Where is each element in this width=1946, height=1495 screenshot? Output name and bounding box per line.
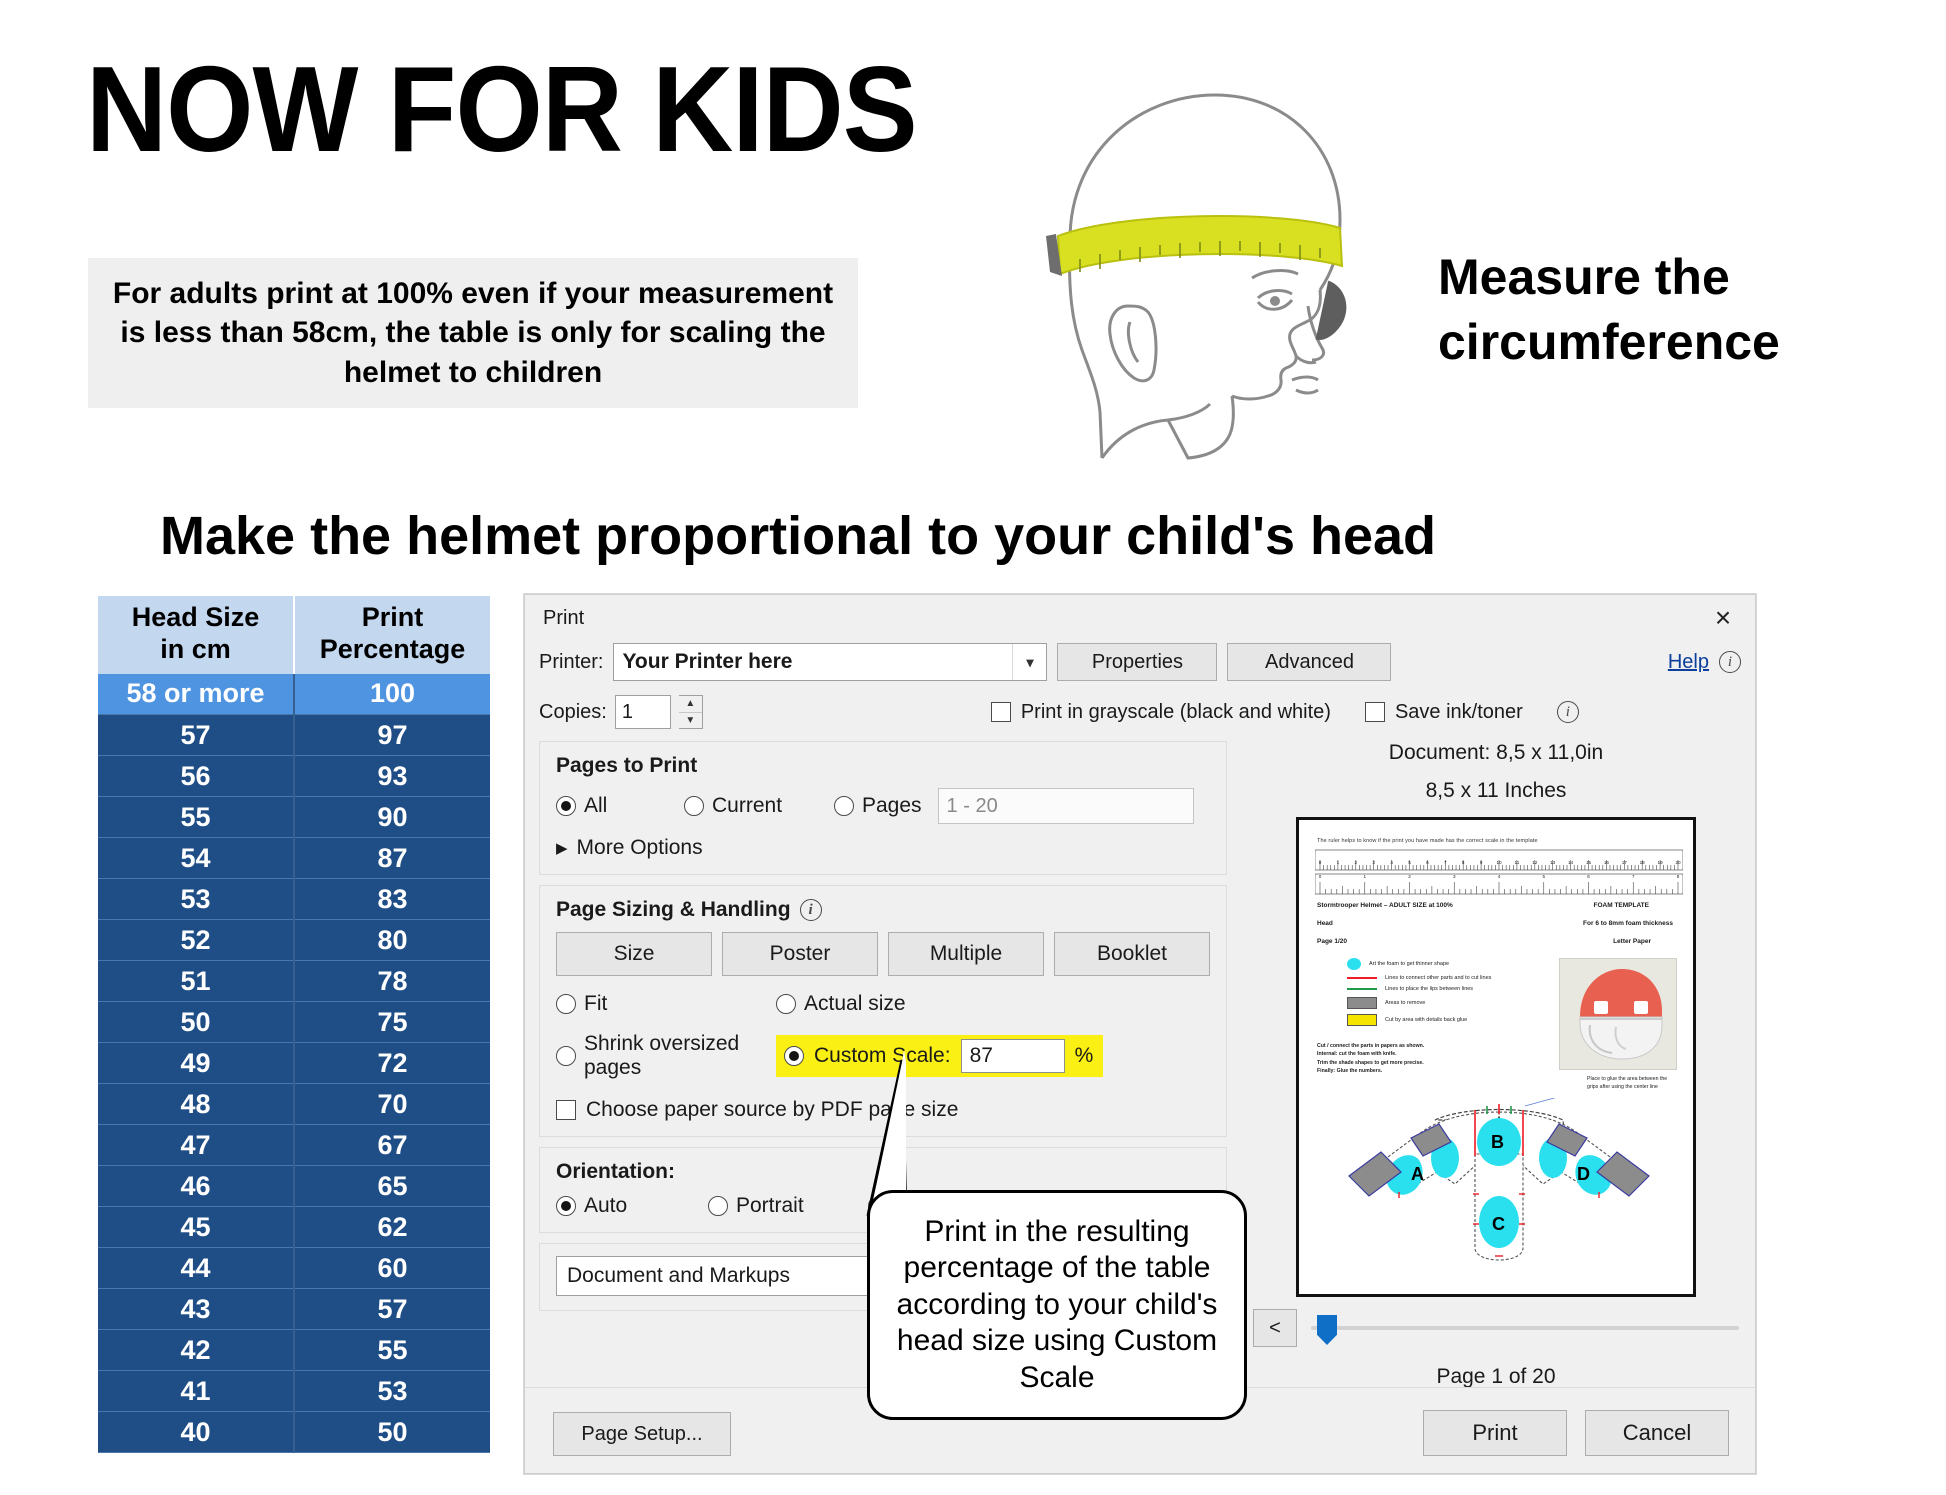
cell-print-percentage: 75 xyxy=(294,1002,490,1043)
cell-head-size: 40 xyxy=(98,1412,294,1453)
ruler-tick-label: 16 xyxy=(1604,860,1609,865)
cell-head-size: 44 xyxy=(98,1248,294,1289)
cell-print-percentage: 83 xyxy=(294,879,490,920)
page-sizing-info-icon[interactable]: i xyxy=(800,899,822,921)
adult-print-note: For adults print at 100% even if your me… xyxy=(88,258,858,408)
radio-pages[interactable]: Pages xyxy=(834,794,922,818)
copies-label: Copies: xyxy=(539,701,607,724)
table-row: 4562 xyxy=(98,1207,490,1248)
svg-text:A: A xyxy=(1411,1164,1424,1184)
svg-text:D: D xyxy=(1577,1164,1590,1184)
copies-stepper[interactable]: ▲ ▼ xyxy=(679,695,703,729)
preview-subtitle-right: For 6 to 8mm foam thickness xyxy=(1583,920,1673,927)
legend-swatch-green-line xyxy=(1347,988,1377,990)
preview-ruler-caption: The ruler helps to know if the print you… xyxy=(1317,838,1538,844)
save-ink-label: Save ink/toner xyxy=(1395,701,1523,724)
pages-to-print-options: All Current Pages 1 - 20 xyxy=(556,788,1210,824)
paper-info: 8,5 x 11 Inches xyxy=(1253,779,1739,803)
legend-label: Lines to connect other parts and to cut … xyxy=(1385,975,1491,981)
ruler-tick-label: 5 xyxy=(1408,860,1411,865)
cell-head-size: 48 xyxy=(98,1084,294,1125)
preview-notes: Cut / connect the parts in papers as sho… xyxy=(1317,1042,1477,1075)
head-profile-icon xyxy=(1010,60,1410,480)
stepper-up-icon[interactable]: ▲ xyxy=(679,696,702,713)
ruler-tick-label: 6 xyxy=(1587,874,1590,879)
document-info: Document: 8,5 x 11,0in xyxy=(1253,741,1739,765)
grayscale-label: Print in grayscale (black and white) xyxy=(1021,701,1331,724)
radio-pages-indicator[interactable] xyxy=(834,796,854,816)
ruler-tick-label: 4 xyxy=(1498,874,1501,879)
ruler-tick-label: 1 xyxy=(1337,860,1340,865)
cell-print-percentage: 93 xyxy=(294,756,490,797)
close-icon[interactable]: × xyxy=(1691,595,1755,641)
cell-print-percentage: 70 xyxy=(294,1084,490,1125)
page-sizing-title: Page Sizing & Handling i xyxy=(556,898,1210,922)
table-row: 5797 xyxy=(98,715,490,756)
cell-print-percentage: 87 xyxy=(294,838,490,879)
svg-text:B: B xyxy=(1491,1132,1504,1152)
radio-custom-scale-indicator[interactable] xyxy=(784,1046,804,1066)
ruler-tick-label: 19 xyxy=(1658,860,1663,865)
cell-head-size: 55 xyxy=(98,797,294,838)
page-slider[interactable] xyxy=(1311,1326,1739,1330)
printer-selected-value: Your Printer here xyxy=(622,650,792,674)
cell-head-size: 45 xyxy=(98,1207,294,1248)
preview-title-left: Stormtrooper Helmet – ADULT SIZE at 100% xyxy=(1317,902,1453,909)
callout-bubble: Print in the resulting percentage of the… xyxy=(867,1190,1247,1420)
cell-print-percentage: 62 xyxy=(294,1207,490,1248)
table-row: 5487 xyxy=(98,838,490,879)
table-row: 5383 xyxy=(98,879,490,920)
sizing-button-size[interactable]: Size xyxy=(556,932,712,976)
legend-swatch-red-line xyxy=(1347,977,1377,979)
cell-head-size: 58 or more xyxy=(98,674,294,715)
preview-page-content: The ruler helps to know if the print you… xyxy=(1309,830,1683,1284)
preview-title-right: FOAM TEMPLATE xyxy=(1594,902,1650,909)
column-header-print-percentage: Print Percentage xyxy=(294,596,490,674)
ruler-tick-label: 10 xyxy=(1496,860,1501,865)
table-row: 5075 xyxy=(98,1002,490,1043)
preview-column: Document: 8,5 x 11,0in 8,5 x 11 Inches T… xyxy=(1239,741,1739,1389)
ruler-tick-label: 7 xyxy=(1632,874,1635,879)
radio-current-indicator[interactable] xyxy=(684,796,704,816)
copies-input[interactable]: 1 xyxy=(615,695,671,729)
comments-forms-value: Document and Markups xyxy=(567,1264,790,1288)
preview-subtitle-left: Head xyxy=(1317,920,1333,927)
save-ink-info-icon[interactable]: i xyxy=(1557,701,1579,723)
table-row: 4767 xyxy=(98,1125,490,1166)
table-row: 4460 xyxy=(98,1248,490,1289)
cell-print-percentage: 55 xyxy=(294,1330,490,1371)
ruler-tick-label: 7 xyxy=(1444,860,1447,865)
cell-head-size: 56 xyxy=(98,756,294,797)
legend-item: Lines to connect other parts and to cut … xyxy=(1347,975,1517,981)
cell-print-percentage: 60 xyxy=(294,1248,490,1289)
ruler-tick-label: 0 xyxy=(1319,860,1322,865)
cell-head-size: 43 xyxy=(98,1289,294,1330)
stepper-down-icon[interactable]: ▼ xyxy=(679,713,702,729)
ruler-tick-label: 20 xyxy=(1675,860,1680,865)
cell-head-size: 53 xyxy=(98,879,294,920)
radio-portrait[interactable]: Portrait xyxy=(708,1194,868,1218)
copies-row: Copies: 1 ▲ ▼ Print in grayscale (black … xyxy=(539,695,1741,729)
previous-page-button[interactable]: < xyxy=(1253,1309,1297,1347)
radio-fit-indicator[interactable] xyxy=(556,994,576,1014)
radio-current[interactable]: Current xyxy=(684,794,834,818)
legend-item: Art the foam to get thinner shape xyxy=(1347,958,1517,970)
help-link[interactable]: Help xyxy=(1668,651,1709,674)
preview-pattern-pieces: A B C D xyxy=(1315,1098,1683,1268)
triangle-right-icon[interactable]: ▶ xyxy=(556,839,568,857)
printer-label: Printer: xyxy=(539,651,603,674)
grayscale-checkbox[interactable] xyxy=(991,702,1011,722)
radio-actual-size-indicator[interactable] xyxy=(776,994,796,1014)
column-header-head-size: Head Size in cm xyxy=(98,596,294,674)
legend-item: Cut by area with details back glue xyxy=(1347,1014,1517,1026)
ruler-tick-label: 6 xyxy=(1426,860,1429,865)
legend-label: Lines to place the lips between lines xyxy=(1385,986,1473,992)
cell-print-percentage: 97 xyxy=(294,715,490,756)
cell-print-percentage: 100 xyxy=(294,674,490,715)
cell-head-size: 46 xyxy=(98,1166,294,1207)
table-row: 4255 xyxy=(98,1330,490,1371)
preview-page-right: Letter Paper xyxy=(1613,938,1651,945)
radio-auto[interactable]: Auto xyxy=(556,1194,708,1218)
table-row: 4050 xyxy=(98,1412,490,1453)
preview-helmet-thumbnail xyxy=(1559,958,1677,1070)
preview-navigation: < xyxy=(1253,1309,1739,1347)
table-row: 4870 xyxy=(98,1084,490,1125)
save-ink-checkbox[interactable] xyxy=(1365,702,1385,722)
callout-tail xyxy=(860,930,1080,1220)
preview-note: Trim the shade shapes to get more precis… xyxy=(1317,1059,1477,1067)
printer-select[interactable]: Your Printer here ▾ xyxy=(613,643,1047,681)
legend-label: Cut by area with details back glue xyxy=(1385,1017,1467,1023)
cell-head-size: 54 xyxy=(98,838,294,879)
cell-head-size: 57 xyxy=(98,715,294,756)
advanced-button[interactable]: Advanced xyxy=(1227,643,1391,681)
ruler-tick-label: 5 xyxy=(1542,874,1545,879)
table-row: 5280 xyxy=(98,920,490,961)
table-row: 5178 xyxy=(98,961,490,1002)
legend-item: Areas to remove xyxy=(1347,997,1517,1009)
legend-label: Art the foam to get thinner shape xyxy=(1369,961,1449,967)
radio-shrink-oversized[interactable]: Shrink oversized pages xyxy=(556,1032,776,1080)
sizing-button-poster[interactable]: Poster xyxy=(722,932,878,976)
ruler-tick-label: 12 xyxy=(1532,860,1537,865)
cell-print-percentage: 90 xyxy=(294,797,490,838)
head-measure-illustration xyxy=(1010,60,1410,480)
radio-portrait-indicator[interactable] xyxy=(708,1196,728,1216)
table-row: 5693 xyxy=(98,756,490,797)
cell-head-size: 47 xyxy=(98,1125,294,1166)
legend-swatch-yellow xyxy=(1347,1014,1377,1026)
paper-source-checkbox[interactable] xyxy=(556,1100,576,1120)
more-options-toggle[interactable]: ▶ More Options xyxy=(556,836,1210,860)
preview-thumb-note: Place to glue the area between the grips… xyxy=(1587,1076,1677,1092)
preview-page-left: Page 1/20 xyxy=(1317,938,1347,945)
ruler-tick-label: 0 xyxy=(1319,874,1322,879)
adult-print-note-text: For adults print at 100% even if your me… xyxy=(102,274,844,393)
properties-button[interactable]: Properties xyxy=(1057,643,1217,681)
ruler-tick-label: 8 xyxy=(1462,860,1465,865)
radio-all-indicator[interactable] xyxy=(556,796,576,816)
pages-to-print-title: Pages to Print xyxy=(556,754,1210,778)
svg-text:C: C xyxy=(1492,1214,1505,1234)
ruler-tick-label: 13 xyxy=(1550,860,1555,865)
preview-ruler: 01234567891011121314151617181920 0123456… xyxy=(1315,848,1683,898)
table-row: 4357 xyxy=(98,1289,490,1330)
page-indicator: Page 1 of 20 xyxy=(1253,1365,1739,1389)
subheading: Make the helmet proportional to your chi… xyxy=(160,505,1436,567)
table-header-row: Head Size in cm Print Percentage xyxy=(98,596,490,674)
table-row: 58 or more100 xyxy=(98,674,490,715)
callout-text: Print in the resulting percentage of the… xyxy=(886,1214,1228,1397)
cancel-button[interactable]: Cancel xyxy=(1585,1410,1729,1456)
ruler-tick-label: 14 xyxy=(1568,860,1573,865)
ruler-tick-label: 9 xyxy=(1480,860,1483,865)
preview-note: Internal: cut the foam with knife. xyxy=(1317,1050,1477,1058)
ruler-tick-label: 2 xyxy=(1355,860,1358,865)
radio-auto-indicator[interactable] xyxy=(556,1196,576,1216)
ruler-tick-label: 4 xyxy=(1390,860,1393,865)
preview-note: Cut / connect the parts in papers as sho… xyxy=(1317,1042,1477,1050)
cell-print-percentage: 57 xyxy=(294,1289,490,1330)
tape-measure-icon xyxy=(1046,216,1342,276)
ruler-tick-label: 3 xyxy=(1372,860,1375,865)
pages-to-print-group: Pages to Print All Current Pages xyxy=(539,741,1227,875)
legend-label: Areas to remove xyxy=(1385,1000,1425,1006)
copies-value: 1 xyxy=(622,701,633,724)
cell-print-percentage: 50 xyxy=(294,1412,490,1453)
radio-shrink-indicator[interactable] xyxy=(556,1046,576,1066)
cell-head-size: 41 xyxy=(98,1371,294,1412)
table-row: 4665 xyxy=(98,1166,490,1207)
ruler-tick-label: 1 xyxy=(1363,874,1366,879)
pages-range-placeholder: 1 - 20 xyxy=(947,795,998,818)
cell-print-percentage: 80 xyxy=(294,920,490,961)
ruler-tick-label: 17 xyxy=(1622,860,1627,865)
radio-all[interactable]: All xyxy=(556,794,684,818)
legend-swatch-grey xyxy=(1347,997,1377,1009)
radio-fit[interactable]: Fit xyxy=(556,992,776,1016)
page-setup-button[interactable]: Page Setup... xyxy=(553,1412,731,1456)
help-info-icon[interactable]: i xyxy=(1719,651,1741,673)
page-slider-thumb[interactable] xyxy=(1317,1315,1337,1345)
cell-print-percentage: 67 xyxy=(294,1125,490,1166)
legend-item: Lines to place the lips between lines xyxy=(1347,986,1517,992)
cell-print-percentage: 78 xyxy=(294,961,490,1002)
dialog-title: Print xyxy=(543,607,584,630)
cell-head-size: 51 xyxy=(98,961,294,1002)
cell-print-percentage: 72 xyxy=(294,1043,490,1084)
ruler-tick-label: 3 xyxy=(1453,874,1456,879)
table-row: 5590 xyxy=(98,797,490,838)
cell-head-size: 52 xyxy=(98,920,294,961)
print-button[interactable]: Print xyxy=(1423,1410,1567,1456)
ruler-tick-label: 8 xyxy=(1677,874,1680,879)
pages-range-input[interactable]: 1 - 20 xyxy=(938,788,1194,824)
table-row: 4153 xyxy=(98,1371,490,1412)
preview-note: Finally: Glue the numbers. xyxy=(1317,1067,1477,1075)
dialog-titlebar: Print × xyxy=(525,595,1755,641)
cell-head-size: 42 xyxy=(98,1330,294,1371)
preview-legend: Art the foam to get thinner shapeLines t… xyxy=(1347,958,1517,1031)
ruler-tick-label: 15 xyxy=(1586,860,1591,865)
measure-circumference-label: Measure the circumference xyxy=(1438,245,1868,375)
cell-print-percentage: 65 xyxy=(294,1166,490,1207)
cell-head-size: 49 xyxy=(98,1043,294,1084)
print-preview[interactable]: The ruler helps to know if the print you… xyxy=(1296,817,1696,1297)
ruler-tick-label: 2 xyxy=(1408,874,1411,879)
page-title: NOW FOR KIDS xyxy=(86,48,917,170)
table-row: 4972 xyxy=(98,1043,490,1084)
printer-row: Printer: Your Printer here ▾ Properties … xyxy=(539,643,1741,681)
ruler-tick-label: 18 xyxy=(1640,860,1645,865)
chevron-down-icon[interactable]: ▾ xyxy=(1012,644,1046,680)
ruler-tick-label: 11 xyxy=(1515,860,1520,865)
cell-head-size: 50 xyxy=(98,1002,294,1043)
cell-print-percentage: 53 xyxy=(294,1371,490,1412)
head-size-scale-table: Head Size in cm Print Percentage 58 or m… xyxy=(98,596,490,1453)
legend-swatch-cyan xyxy=(1347,958,1361,970)
